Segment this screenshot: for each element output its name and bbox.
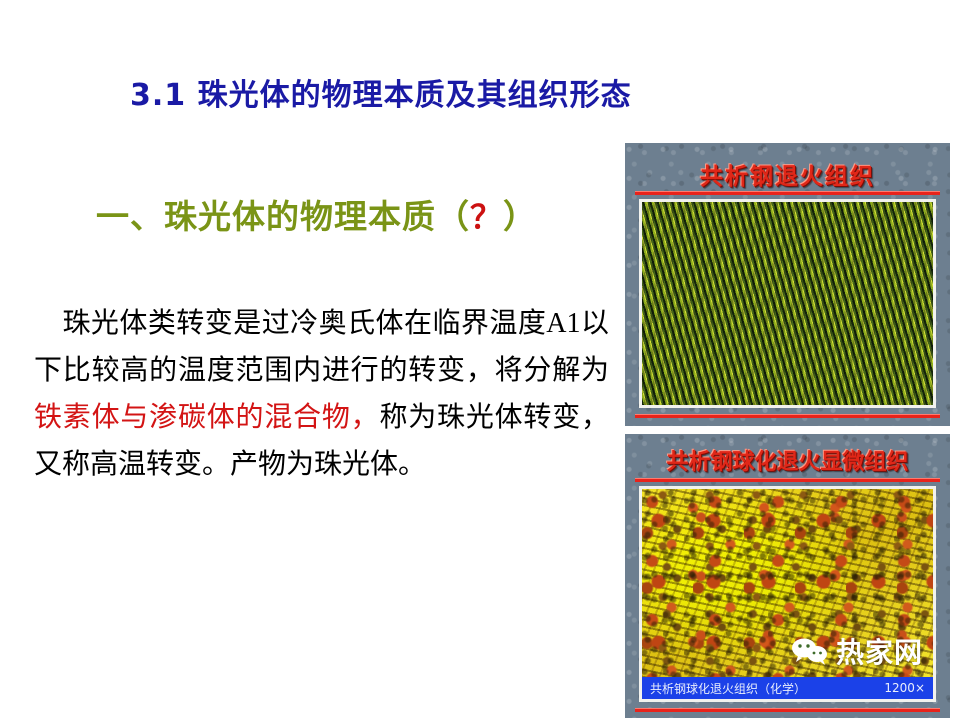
body-segment-1: 珠光体类转变是过冷奥氏体在临界温度A1以下比较高的温度范围内进行的转变，将分解为 (34, 308, 609, 386)
figure-info-strip: 共析钢球化退火组织（化学） 1200× (642, 677, 933, 699)
micrograph-texture-lamellar (642, 202, 933, 405)
subtitle-prefix: 一、珠光体的物理本质（ (96, 200, 470, 236)
figure-strip-label: 共析钢球化退火组织（化学） (650, 680, 806, 697)
page-title: 3.1 珠光体的物理本质及其组织形态 (130, 70, 790, 114)
micrograph-lamellar-pearlite (639, 199, 936, 408)
body-highlight: 铁素体与渗碳体的混合物， (34, 402, 379, 433)
micrograph-spheroidized-pearlite: 热家网 共析钢球化退火组织（化学） 1200× (639, 486, 936, 702)
body-paragraph: 珠光体类转变是过冷奥氏体在临界温度A1以下比较高的温度范围内进行的转变，将分解为… (34, 300, 609, 488)
figure-panel-spheroidized-pearlite: 共析钢球化退火显微组织 热家网 共析钢球化退火 (625, 434, 950, 718)
caption-underline-bottom (635, 478, 940, 482)
panel-bottom-rule-top (635, 414, 940, 418)
micrograph-texture-spheroid (642, 489, 933, 699)
caption-underline-top (635, 191, 940, 195)
figure-magnification: 1200× (884, 681, 925, 695)
figure-caption-bottom: 共析钢球化退火显微组织 (625, 444, 950, 476)
figure-caption-top: 共析钢退火组织 (625, 157, 950, 191)
figure-panel-annealed-pearlite: 共析钢退火组织 (625, 143, 950, 426)
slide-canvas: 3.1 珠光体的物理本质及其组织形态 一、珠光体的物理本质（？） 珠光体类转变是… (0, 0, 960, 720)
subtitle-suffix: ） (503, 200, 537, 236)
section-subtitle: 一、珠光体的物理本质（？） (96, 190, 537, 238)
subtitle-question-mark: ？ (470, 198, 503, 236)
panel-bottom-rule-bottom (635, 708, 940, 712)
